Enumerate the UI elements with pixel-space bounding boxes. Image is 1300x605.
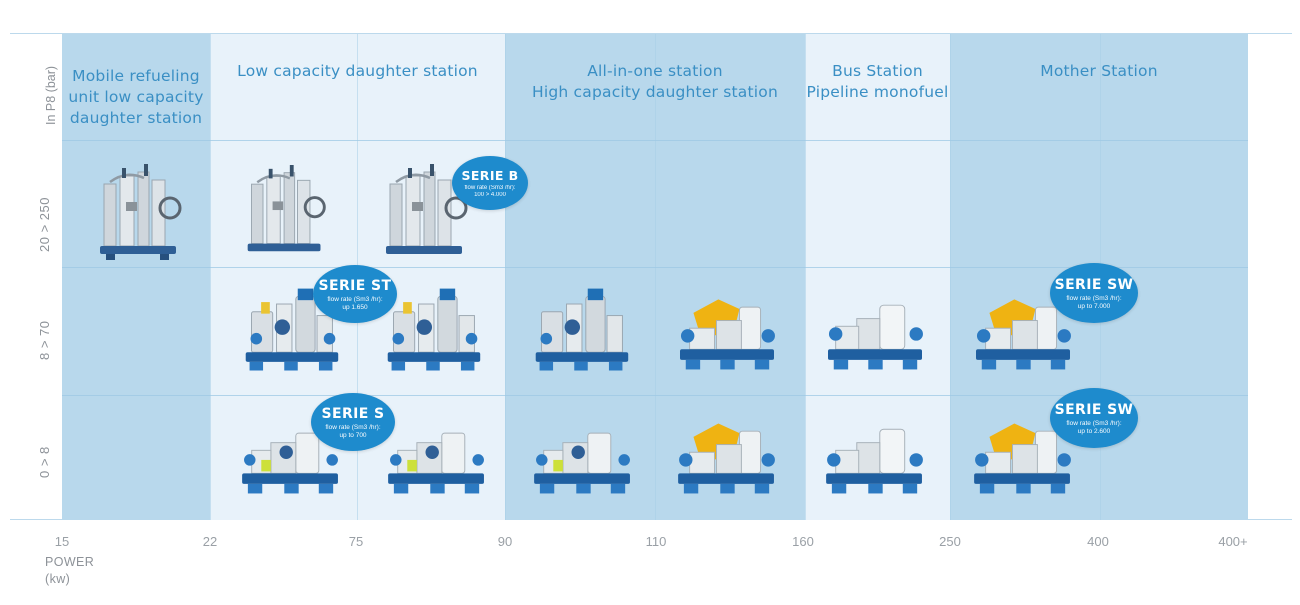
x-axis-title: POWER (kw)	[45, 554, 94, 588]
header-line: Mobile refueling	[62, 66, 210, 87]
machine-allinone-4	[672, 412, 782, 504]
badge-value: up to 700	[339, 432, 366, 439]
badge-title: SERIE ST	[319, 278, 392, 294]
x-tick-160: 160	[773, 534, 833, 549]
badge-value: up 1.650	[342, 304, 367, 311]
machine-allinone-2	[672, 286, 782, 380]
column-header-low-capacity: Low capacity daughter station	[210, 61, 505, 82]
badge-subtitle: flow rate (Sm3 /hr):	[464, 185, 515, 191]
machine-allinone-1	[528, 282, 634, 380]
header-line: Low capacity daughter station	[210, 61, 505, 82]
x-tick-250: 250	[920, 534, 980, 549]
header-line: unit low capacity	[62, 87, 210, 108]
column-header-mobile: Mobile refueling unit low capacity daugh…	[62, 66, 210, 129]
badge-subtitle: flow rate (Sm3 /hr):	[1066, 295, 1121, 302]
y-axis-title: In P8 (bar)	[44, 66, 58, 125]
header-line: All-in-one station	[505, 61, 805, 82]
x-tick-75: 75	[326, 534, 386, 549]
badge-title: SERIE S	[322, 406, 385, 422]
badge-title: SERIE SW	[1055, 402, 1134, 418]
badge-serie-st[interactable]: SERIE ST flow rate (Sm3 /hr): up 1.650	[313, 265, 397, 323]
x-tick-110: 110	[626, 534, 686, 549]
badge-title: SERIE SW	[1055, 277, 1134, 293]
badge-serie-b[interactable]: SERIE B flow rate (Sm3 /hr): 100 > 4.000	[452, 156, 528, 210]
machine-mobile-unit	[92, 162, 188, 262]
x-tick-90: 90	[475, 534, 535, 549]
badge-subtitle: flow rate (Sm3 /hr):	[325, 424, 380, 431]
machine-allinone-3	[528, 412, 638, 504]
x-axis-title-line2: (kw)	[45, 571, 94, 588]
gridline-v	[210, 34, 211, 520]
column-header-bus-station: Bus Station Pipeline monofuel	[805, 61, 950, 103]
header-line: High capacity daughter station	[505, 82, 805, 103]
gridline-v	[950, 34, 951, 520]
y-tick-20-250: 20 > 250	[37, 197, 52, 252]
x-tick-15: 15	[32, 534, 92, 549]
column-header-mother-station: Mother Station	[950, 61, 1248, 82]
machine-bus-station-1	[820, 286, 930, 380]
product-matrix-chart: Mobile refueling unit low capacity daugh…	[0, 0, 1300, 605]
badge-value: up to 2.600	[1078, 428, 1111, 435]
machine-low-cap-b1	[240, 162, 332, 260]
gridline-v	[655, 34, 656, 520]
header-line: Pipeline monofuel	[805, 82, 950, 103]
badge-serie-sw-high[interactable]: SERIE SW flow rate (Sm3 /hr): up to 7.00…	[1050, 263, 1138, 323]
x-axis-title-line1: POWER	[45, 554, 94, 571]
badge-subtitle: flow rate (Sm3 /hr):	[327, 296, 382, 303]
y-tick-0-8: 0 > 8	[37, 446, 52, 478]
column-header-all-in-one: All-in-one station High capacity daughte…	[505, 61, 805, 103]
header-line: Bus Station	[805, 61, 950, 82]
badge-value: up to 7.000	[1078, 303, 1111, 310]
gridline-v	[505, 34, 506, 520]
badge-subtitle: flow rate (Sm3 /hr):	[1066, 420, 1121, 427]
header-line: Mother Station	[950, 61, 1248, 82]
x-tick-400: 400	[1068, 534, 1128, 549]
header-line: daughter station	[62, 108, 210, 129]
gridline-v	[805, 34, 806, 520]
y-tick-8-70: 8 > 70	[37, 320, 52, 360]
machine-bus-station-2	[820, 412, 930, 504]
badge-serie-s[interactable]: SERIE S flow rate (Sm3 /hr): up to 700	[311, 393, 395, 451]
badge-title: SERIE B	[461, 168, 518, 183]
x-tick-400-plus: 400+	[1203, 534, 1263, 549]
x-tick-22: 22	[180, 534, 240, 549]
gridline-h	[62, 140, 1248, 141]
badge-serie-sw-low[interactable]: SERIE SW flow rate (Sm3 /hr): up to 2.60…	[1050, 388, 1138, 448]
machine-s-2	[382, 412, 492, 504]
badge-value: 100 > 4.000	[474, 192, 506, 198]
